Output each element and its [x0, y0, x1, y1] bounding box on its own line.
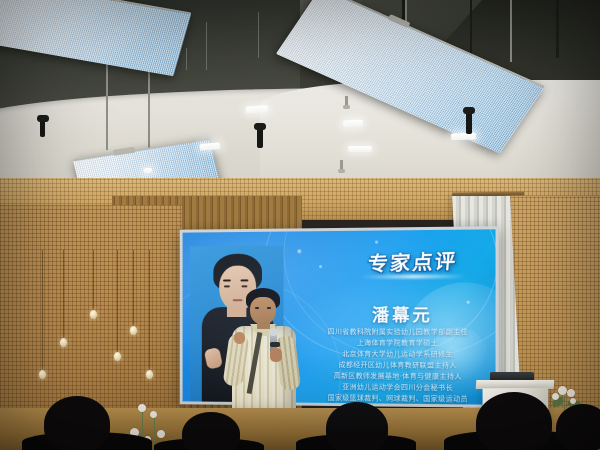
ceiling-rod-8	[258, 12, 259, 58]
light-hanger-rod-7	[510, 0, 512, 62]
ceiling-spotlight-1	[257, 128, 263, 148]
presenter-eye-left	[255, 307, 259, 309]
audience-head-1	[44, 396, 110, 450]
presenter-face	[250, 297, 276, 325]
portrait-eyebrow-left	[223, 279, 231, 281]
slide-speaker-name: 潘幕元	[307, 301, 495, 327]
slide-decor-dot-3	[375, 241, 378, 244]
slide-bio-list: 四川省教科院附属实验幼儿园教学部副主任 上海体育学院教育学硕士 北京体育大学幼儿…	[297, 327, 495, 405]
ceiling-rod-4	[206, 22, 207, 70]
flower-bloom	[150, 411, 157, 418]
audience-head-5	[556, 404, 600, 450]
ceiling-rod-3	[186, 48, 187, 70]
slide-title-underline	[361, 274, 467, 279]
presenter-wristwatch	[270, 342, 280, 347]
sprinkler-head-1	[345, 96, 348, 108]
flower-bloom	[157, 430, 165, 438]
bulb-wire	[63, 250, 64, 338]
spotlight-head	[37, 115, 49, 122]
ceiling-beam-4	[556, 0, 559, 58]
audience-head-3	[326, 402, 388, 450]
flower-stem	[154, 416, 155, 444]
decor-bulb-4	[114, 352, 121, 361]
decor-bulb-1	[39, 370, 46, 379]
presentation-hall-scene: 专家点评 潘幕元 四川省教科院附属实验幼儿园教学部副主任 上海体育学院教育学硕士…	[0, 0, 600, 450]
portrait-eyebrow-right	[241, 279, 249, 281]
bulb-wire	[42, 250, 43, 370]
presenter-hand-left	[234, 332, 245, 344]
bulb-wire	[117, 250, 118, 352]
bulb-wire	[93, 250, 94, 310]
recessed-ceiling-light-5	[348, 146, 372, 152]
flower-bloom	[558, 386, 567, 395]
slide-decor-dot-2	[319, 265, 322, 268]
presenter-person	[226, 288, 300, 410]
recessed-ceiling-light-4	[451, 133, 476, 141]
audience-head-4	[476, 392, 552, 450]
flower-bloom	[570, 398, 576, 404]
presenter-hand-right	[270, 348, 282, 362]
spotlight-head	[254, 123, 266, 130]
decor-bulb-5	[130, 326, 137, 335]
bulb-wire	[149, 250, 150, 370]
slide-bio-line: 四川省教科院附属实验幼儿园教学部副主任	[297, 327, 495, 338]
flower-bloom	[138, 404, 146, 412]
sprinkler-head-2	[340, 160, 343, 172]
decor-bulb-6	[146, 370, 153, 379]
slide-decor-dot-1	[297, 249, 301, 253]
ceiling-spotlight-2	[466, 112, 472, 134]
slide-title-text: 专家点评	[346, 244, 481, 278]
decor-bulb-3	[90, 310, 97, 319]
recessed-ceiling-light-3	[343, 119, 363, 127]
ceiling-spotlight-3	[40, 120, 45, 137]
microphone-head	[269, 328, 278, 336]
recessed-ceiling-light-6	[144, 168, 152, 173]
bulb-wire	[133, 250, 134, 326]
flower-bloom	[567, 389, 575, 397]
slide-bio-line: 国家级篮球裁判、网球裁判、国家级运动员	[297, 393, 495, 405]
presenter-eye-right	[267, 307, 271, 309]
recessed-ceiling-light-2	[200, 142, 220, 150]
decor-bulb-2	[60, 338, 67, 347]
spotlight-head	[463, 107, 475, 114]
audience-head-2	[182, 412, 240, 450]
slide-title-plate: 专家点评	[347, 244, 479, 279]
slide-bio-line: 上海体育学院教育学硕士	[297, 338, 495, 350]
flower-bloom	[552, 393, 559, 400]
